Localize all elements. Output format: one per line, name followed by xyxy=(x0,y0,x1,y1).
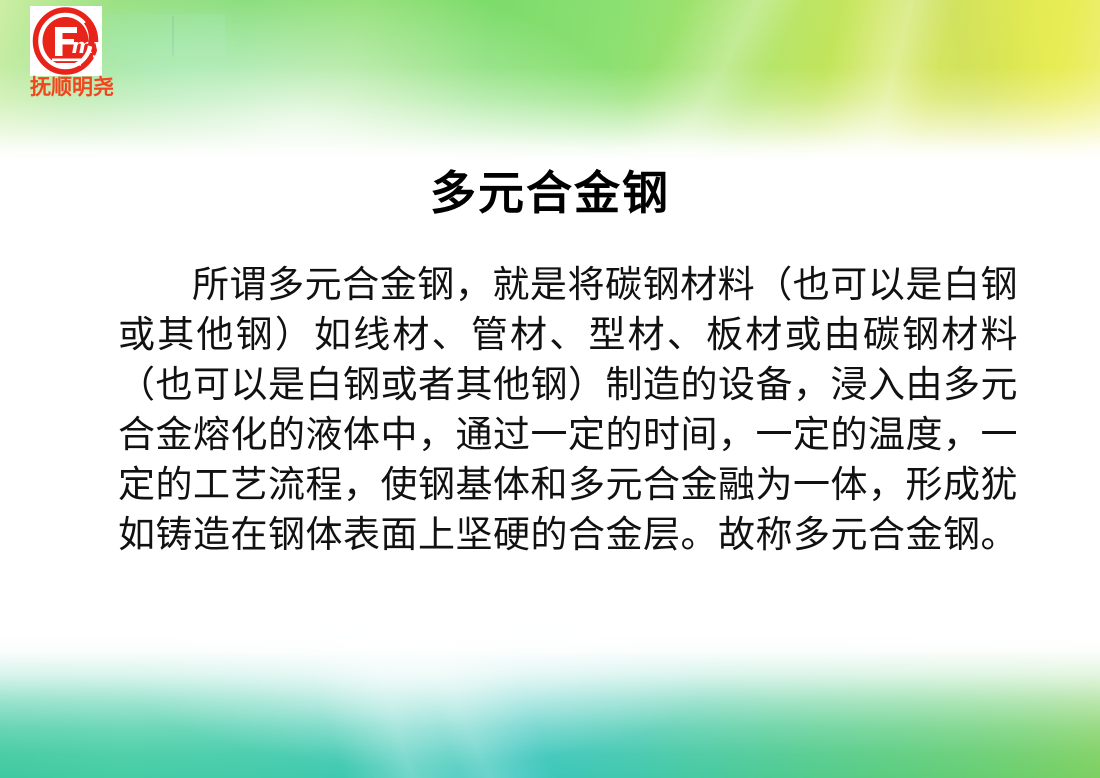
company-logo: my 抚顺明尧 xyxy=(12,4,132,112)
presentation-slide: my 抚顺明尧 多元合金钢 所谓多元合金钢，就是将碳钢材料（也可以是白钢或其他钢… xyxy=(0,0,1100,778)
fmy-logo-icon: my xyxy=(30,6,102,76)
bottom-decorative-band xyxy=(0,630,1100,778)
company-name-label: 抚顺明尧 xyxy=(12,77,132,98)
top-band-white-fade xyxy=(0,0,1100,160)
top-decorative-band xyxy=(0,0,1100,160)
slide-title: 多元合金钢 xyxy=(0,168,1100,219)
slide-body-paragraph: 所谓多元合金钢，就是将碳钢材料（也可以是白钢或其他钢）如线材、管材、型材、板材或… xyxy=(118,260,1018,560)
svg-text:my: my xyxy=(71,33,102,58)
bottom-band-white-fade xyxy=(0,630,1100,778)
slide-content: 多元合金钢 所谓多元合金钢，就是将碳钢材料（也可以是白钢或其他钢）如线材、管材、… xyxy=(0,150,1100,640)
